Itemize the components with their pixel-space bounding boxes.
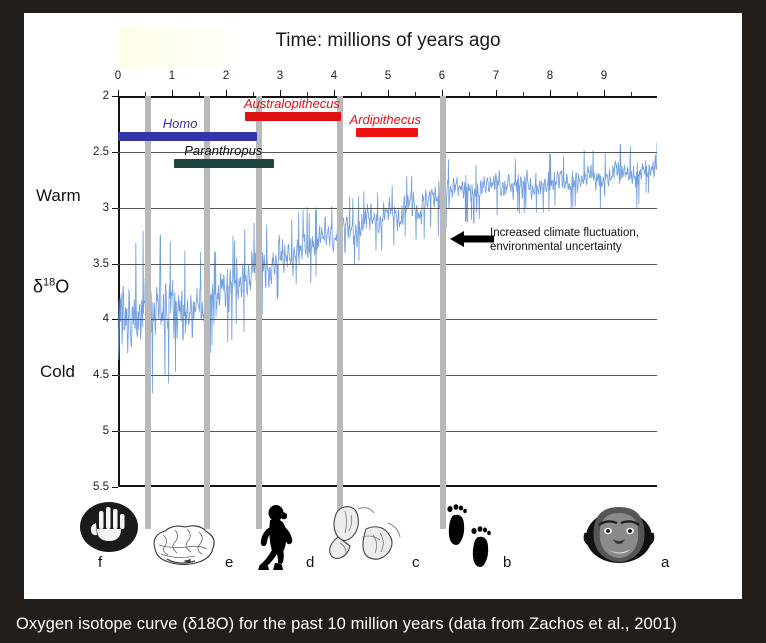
footprints-icon — [442, 503, 500, 574]
x-axis-tick — [496, 90, 497, 96]
y-axis-tick-label: 3.5 — [93, 258, 118, 270]
annotation-line-2: environmental uncertainty — [490, 240, 639, 254]
x-axis-tick — [172, 90, 173, 96]
y-axis-tick-label: 5 — [103, 425, 118, 437]
event-band-4 — [440, 96, 446, 529]
brain-icon — [147, 523, 219, 572]
x-axis-minor-tick — [469, 92, 470, 96]
x-axis-tick-label: 0 — [115, 70, 121, 82]
hand-print-icon — [79, 501, 139, 558]
x-axis-tick-label: 9 — [601, 70, 607, 82]
annotation-line-1: Increased climate fluctuation, — [490, 226, 639, 240]
x-axis-tick-label: 4 — [331, 70, 337, 82]
taxon-label-homo: Homo — [163, 116, 198, 131]
event-band-3 — [337, 96, 343, 529]
x-axis-minor-tick — [631, 92, 632, 96]
icon-letter-d: d — [306, 554, 314, 571]
gridline — [118, 208, 657, 209]
x-axis-tick-label: 7 — [493, 70, 499, 82]
icon-letter-b: b — [503, 554, 511, 571]
cold-label: Cold — [40, 362, 75, 382]
walking-hominin-icon — [246, 505, 300, 576]
x-axis-tick-label: 3 — [277, 70, 283, 82]
y-axis-tick-label: 4.5 — [93, 369, 118, 381]
x-axis-tick-label: 1 — [169, 70, 175, 82]
taxon-range-bar-australopithecus — [245, 112, 341, 121]
y-axis-tick-label: 3 — [103, 202, 118, 214]
x-axis-tick-label: 8 — [547, 70, 553, 82]
slide-caption: Oxygen isotope curve (δ18O) for the past… — [0, 605, 766, 643]
x-axis-tick — [118, 90, 119, 96]
x-axis-tick — [226, 90, 227, 96]
slide-root: Time: millions of years ago 22.533.544.5… — [0, 0, 766, 643]
icon-letter-e: e — [225, 554, 233, 571]
taxon-range-bar-homo — [118, 132, 257, 141]
chart-plot-area: 22.533.544.555.50123456789HomoAustralopi… — [118, 96, 657, 487]
taxon-range-bar-ardipithecus — [356, 128, 418, 137]
taxon-range-bar-paranthropus — [174, 159, 273, 168]
gridline — [118, 431, 657, 432]
x-axis-tick-label: 6 — [439, 70, 445, 82]
x-axis-minor-tick — [361, 92, 362, 96]
y-axis-tick-label: 4 — [103, 313, 118, 325]
x-axis-tick — [604, 90, 605, 96]
x-axis-tick — [550, 90, 551, 96]
stone-tools-icon — [318, 503, 408, 570]
y-axis-tick-label: 2 — [103, 90, 118, 102]
icon-letter-c: c — [412, 554, 420, 571]
taxon-label-australopithecus: Australopithecus — [244, 96, 340, 111]
x-axis-minor-tick — [577, 92, 578, 96]
event-band-0 — [145, 96, 151, 529]
x-axis-tick-label: 2 — [223, 70, 229, 82]
taxon-label-paranthropus: Paranthropus — [184, 143, 262, 158]
x-axis-minor-tick — [523, 92, 524, 96]
icon-letter-f: f — [98, 554, 102, 571]
chart-title: Time: millions of years ago — [118, 30, 658, 52]
y-axis-title: δ18O — [33, 277, 69, 298]
gridline — [118, 375, 657, 376]
taxon-label-ardipithecus: Ardipithecus — [350, 112, 422, 127]
x-axis-tick — [388, 90, 389, 96]
x-axis-minor-tick — [415, 92, 416, 96]
gridline — [118, 264, 657, 265]
y-axis-tick-label: 2.5 — [93, 146, 118, 158]
warm-label: Warm — [36, 186, 81, 206]
x-axis-tick-label: 5 — [385, 70, 391, 82]
climate-annotation: Increased climate fluctuation, environme… — [490, 226, 639, 254]
gridline — [118, 319, 657, 320]
y-axis-tick-label: 5.5 — [93, 481, 118, 493]
evolution-icon-strip: f e — [24, 497, 742, 589]
left-arrow-icon — [450, 231, 494, 247]
icon-letter-a: a — [661, 554, 669, 571]
ape-head-icon — [583, 503, 655, 570]
x-axis-minor-tick — [199, 92, 200, 96]
